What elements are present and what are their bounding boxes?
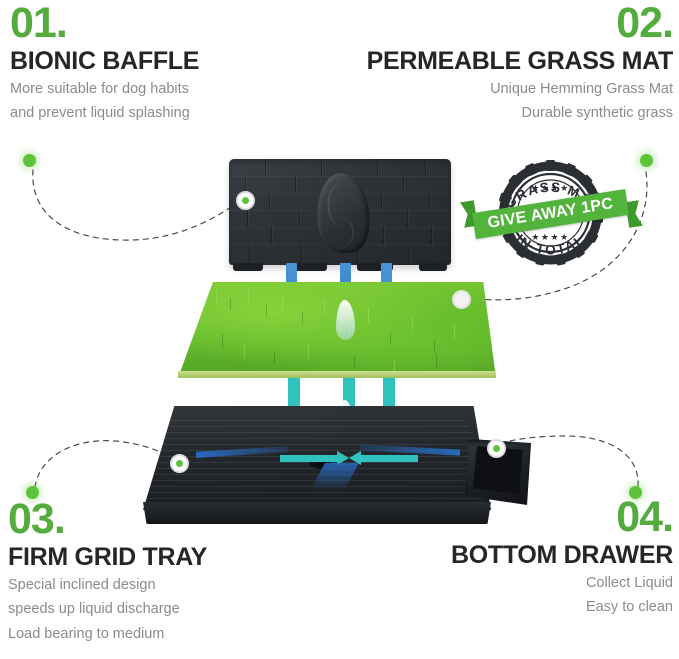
infographic-canvas: 01. BIONIC BAFFLE More suitable for dog …	[0, 0, 679, 659]
badge-stars-bottom: ★★★★	[531, 232, 569, 242]
callout-02-title: PERMEABLE GRASS MAT	[367, 48, 673, 75]
callout-02: 02. PERMEABLE GRASS MAT Unique Hemming G…	[367, 4, 673, 124]
giveaway-badge: 2 GRASS MATS IN TOTAL ★★★★ ★★★★ GIVE AWA…	[479, 164, 622, 262]
callout-03-line-3: Load bearing to medium	[8, 624, 207, 645]
callout-03-title: FIRM GRID TRAY	[8, 544, 207, 571]
callout-01-line-1: More suitable for dog habits	[10, 79, 199, 100]
callout-01-line-2: and prevent liquid splashing	[10, 103, 199, 124]
callout-04-dot	[629, 486, 642, 499]
grass-hemming-edge	[178, 371, 496, 378]
callout-01-number: 01.	[10, 4, 199, 44]
tray-rim	[143, 502, 491, 524]
baffle-marker	[236, 191, 255, 210]
callout-03-line-1: Special inclined design	[8, 575, 207, 596]
tray-flow-from-right	[360, 455, 418, 462]
callout-02-number: 02.	[367, 4, 673, 44]
callout-04-title: BOTTOM DRAWER	[451, 542, 673, 569]
callout-01-title: BIONIC BAFFLE	[10, 48, 199, 75]
bottom-drawer-marker	[487, 439, 506, 458]
callout-01: 01. BIONIC BAFFLE More suitable for dog …	[10, 4, 199, 124]
callout-01-dot	[23, 154, 36, 167]
callout-02-line-2: Durable synthetic grass	[367, 103, 673, 124]
callout-02-dot	[640, 154, 653, 167]
callout-04-line-1: Collect Liquid	[451, 573, 673, 594]
callout-04-line-2: Easy to clean	[451, 597, 673, 618]
callout-03-line-2: speeds up liquid discharge	[8, 599, 207, 620]
callout-03-dot	[26, 486, 39, 499]
badge-stars-top: ★★★★	[531, 183, 569, 193]
bionic-baffle	[229, 159, 451, 265]
leader-line-01	[33, 170, 243, 240]
grid-tray-marker	[170, 454, 189, 473]
callout-02-line-1: Unique Hemming Grass Mat	[367, 79, 673, 100]
tray-flow-from-left	[280, 455, 338, 462]
grass-mat-marker	[452, 290, 471, 309]
